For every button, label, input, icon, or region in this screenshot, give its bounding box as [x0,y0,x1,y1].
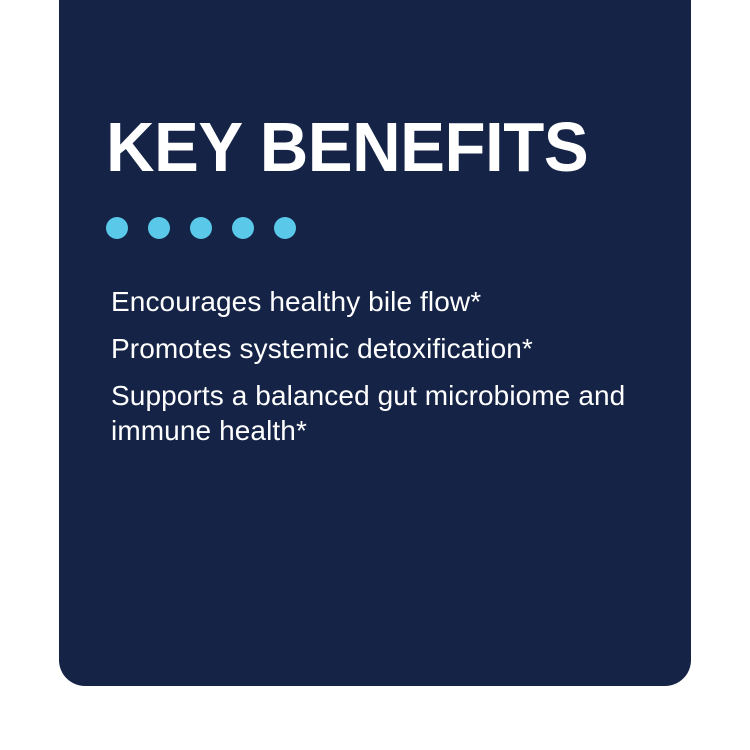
accent-dot-icon [232,217,254,239]
list-item: Encourages healthy bile flow* [111,284,631,319]
accent-dot-row [106,217,296,239]
list-item: Promotes systemic detoxification* [111,331,631,366]
accent-dot-icon [106,217,128,239]
accent-dot-icon [274,217,296,239]
accent-dot-icon [190,217,212,239]
accent-dot-icon [148,217,170,239]
page-title: KEY BENEFITS [106,112,588,182]
list-item: Supports a balanced gut microbiome and i… [111,378,631,448]
key-benefits-card: KEY BENEFITS Encourages healthy bile flo… [59,0,691,686]
benefit-list: Encourages healthy bile flow* Promotes s… [111,284,671,448]
